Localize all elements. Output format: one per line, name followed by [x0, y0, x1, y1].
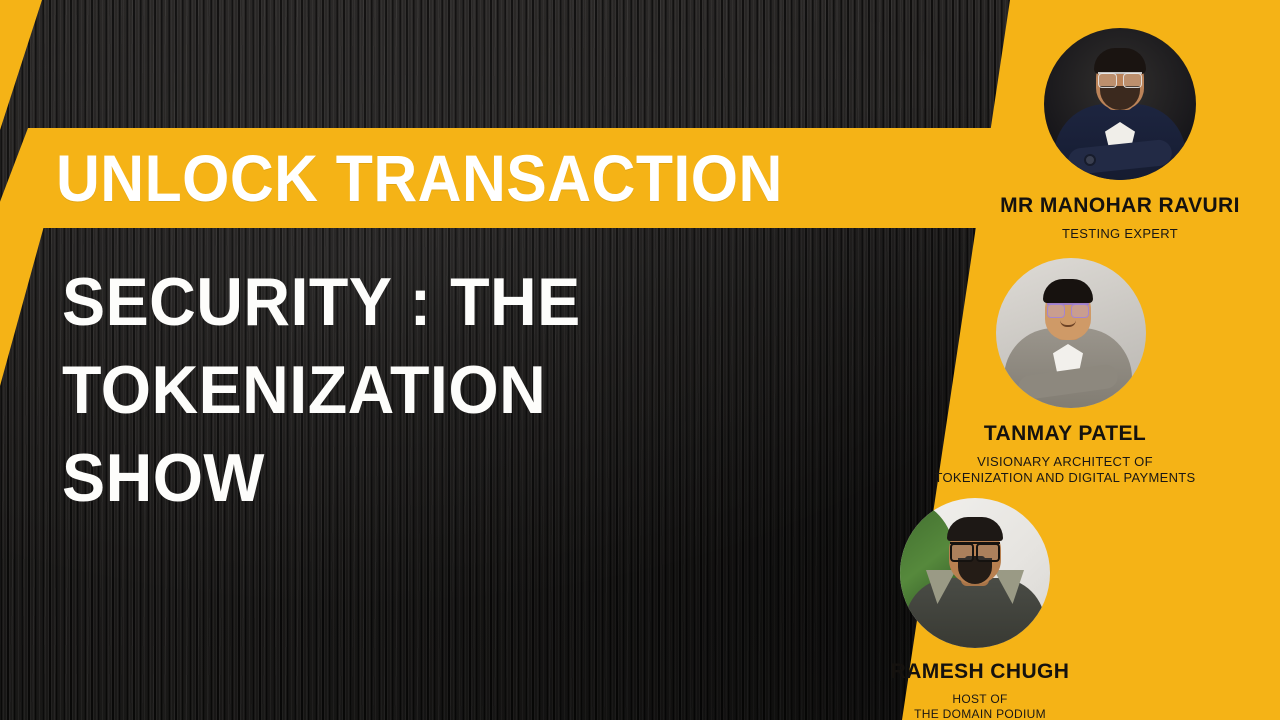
- speaker-card-2: TANMAY PATEL VISIONARY ARCHITECT OF TOKE…: [900, 258, 1230, 487]
- headline-line-3: SHOW: [62, 434, 784, 522]
- headline-kicker-container: UNLOCK TRANSACTION: [56, 128, 1016, 228]
- speaker-card-1: MR MANOHAR RAVURI TESTING EXPERT: [960, 28, 1280, 242]
- speaker-name-1: MR MANOHAR RAVURI: [960, 194, 1280, 218]
- speaker-role-3-line-2: THE DOMAIN PODIUM: [820, 707, 1140, 720]
- speaker-role-1-line-1: TESTING EXPERT: [960, 226, 1280, 242]
- speaker-photo-tanmay-patel: [996, 258, 1146, 408]
- speaker-role-2: VISIONARY ARCHITECT OF TOKENIZATION AND …: [900, 454, 1230, 487]
- speaker-role-3-line-1: HOST OF: [820, 692, 1140, 707]
- headline-line-2: TOKENIZATION: [62, 346, 784, 434]
- speaker-role-2-line-1: VISIONARY ARCHITECT OF: [900, 454, 1230, 470]
- speaker-role-3: HOST OF THE DOMAIN PODIUM: [820, 692, 1140, 720]
- thumbnail-canvas: UNLOCK TRANSACTION SECURITY : THE TOKENI…: [0, 0, 1280, 720]
- speaker-role-2-line-2: TOKENIZATION AND DIGITAL PAYMENTS: [900, 470, 1230, 486]
- speaker-name-2: TANMAY PATEL: [900, 422, 1230, 446]
- speaker-card-3: RAMESH CHUGH HOST OF THE DOMAIN PODIUM: [820, 498, 1140, 720]
- headline-line-1: SECURITY : THE: [62, 258, 784, 346]
- headline-main: SECURITY : THE TOKENIZATION SHOW: [62, 258, 822, 522]
- headline-kicker: UNLOCK TRANSACTION: [56, 145, 783, 211]
- speaker-photo-ramesh-chugh: [900, 498, 1050, 648]
- speaker-name-3: RAMESH CHUGH: [820, 660, 1140, 684]
- speaker-photo-manohar-ravuri: [1044, 28, 1196, 180]
